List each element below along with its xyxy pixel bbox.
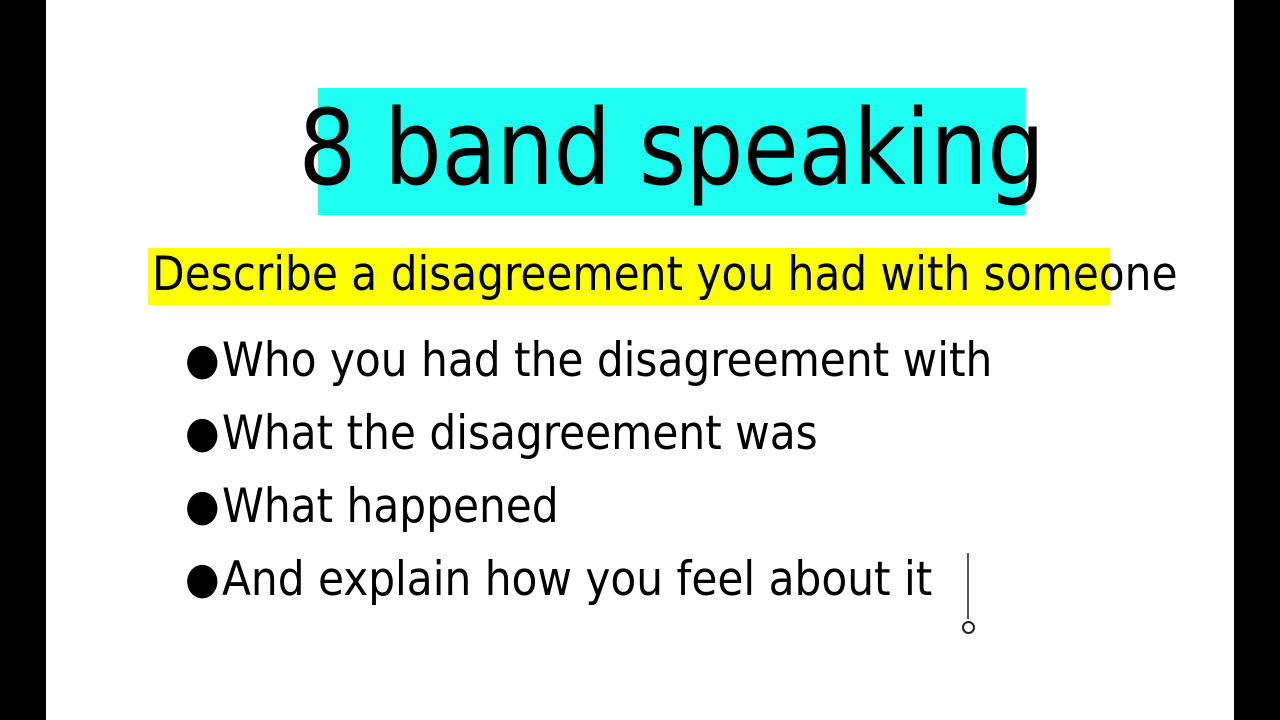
bullet-label: Who you had the disagreement with	[222, 337, 992, 384]
bullet-dot-icon: ●	[185, 411, 222, 455]
page-title: 8 band speaking	[299, 96, 1045, 208]
subtitle-highlight-band: Describe a disagreement you had with som…	[148, 248, 1110, 305]
bullet-label: What happened	[222, 483, 559, 530]
letterbox-bar-left	[0, 0, 46, 720]
bullet-dot-icon: ●	[185, 338, 222, 382]
bullet-list: ● Who you had the disagreement with ● Wh…	[185, 337, 1185, 629]
bullet-dot-icon: ●	[185, 557, 222, 601]
task-prompt: Describe a disagreement you had with som…	[148, 251, 1177, 302]
slide-canvas: 8 band speaking Describe a disagreement …	[46, 0, 1234, 720]
bullet-label: What the disagreement was	[222, 410, 818, 457]
list-item: ● What the disagreement was	[185, 410, 1185, 483]
list-item: ● What happened	[185, 483, 1185, 556]
list-item: ● Who you had the disagreement with	[185, 337, 1185, 410]
bullet-dot-icon: ●	[185, 484, 222, 528]
slide-root: 8 band speaking Describe a disagreement …	[0, 0, 1280, 720]
list-item: ● And explain how you feel about it	[185, 556, 1185, 629]
letterbox-bar-right	[1234, 0, 1280, 720]
bullet-label: And explain how you feel about it	[222, 556, 932, 603]
title-highlight-band: 8 band speaking	[318, 88, 1025, 215]
